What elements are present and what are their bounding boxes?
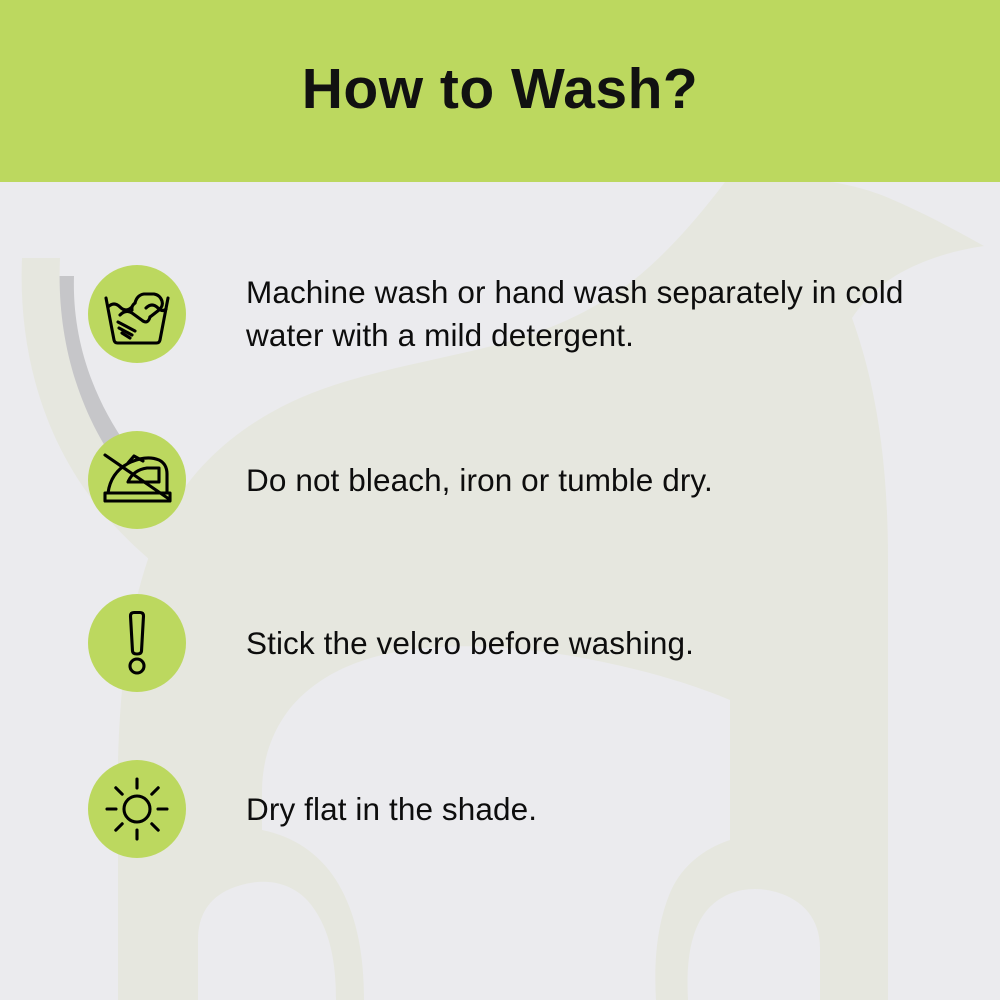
instruction-text: Stick the velcro before washing.: [246, 622, 694, 665]
hand-wash-icon: [101, 281, 173, 347]
instruction-text: Dry flat in the shade.: [246, 788, 537, 831]
do-not-iron-icon-badge: [88, 431, 186, 529]
instruction-item-do-not-iron: Do not bleach, iron or tumble dry.: [88, 431, 938, 529]
instruction-item-hand-wash: Machine wash or hand wash separately in …: [88, 265, 938, 363]
header-band: How to Wash?: [0, 0, 1000, 182]
instruction-item-dry-flat: Dry flat in the shade.: [88, 760, 938, 858]
instruction-list: Machine wash or hand wash separately in …: [0, 182, 1000, 1000]
how-to-wash-card: How to Wash?: [0, 0, 1000, 1000]
instruction-text: Do not bleach, iron or tumble dry.: [246, 459, 713, 502]
sun-icon-badge: [88, 760, 186, 858]
instruction-item-velcro: Stick the velcro before washing.: [88, 594, 938, 692]
instruction-text: Machine wash or hand wash separately in …: [246, 271, 926, 357]
page-title: How to Wash?: [302, 61, 699, 122]
sun-icon: [104, 776, 170, 842]
exclamation-icon: [117, 610, 157, 676]
exclamation-icon-badge: [88, 594, 186, 692]
do-not-iron-icon: [101, 449, 173, 511]
hand-wash-icon-badge: [88, 265, 186, 363]
